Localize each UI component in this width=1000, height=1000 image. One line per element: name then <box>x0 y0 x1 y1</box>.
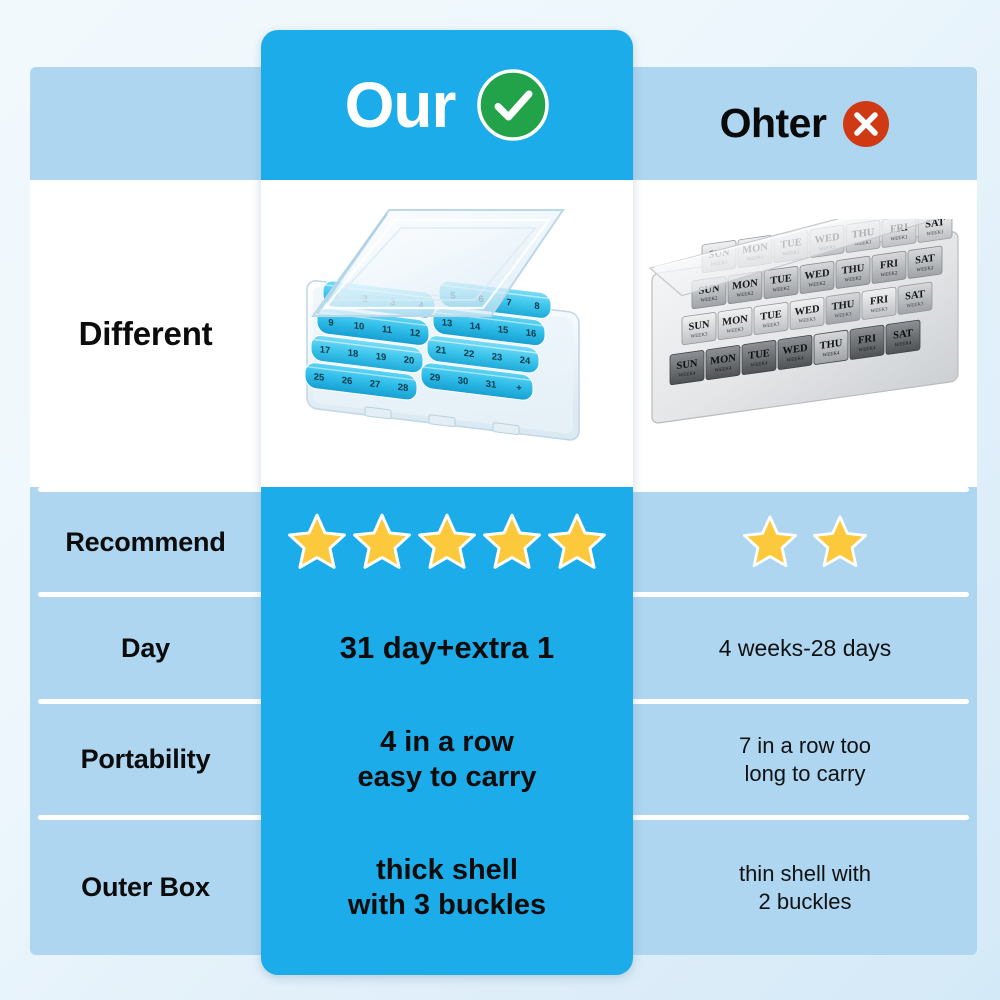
svg-text:30: 30 <box>458 375 469 387</box>
our-portability-value: 4 in a row easy to carry <box>261 704 633 815</box>
other-day-value: 4 weeks-28 days <box>633 597 977 699</box>
other-column-header: Ohter <box>633 67 977 180</box>
star-icon <box>481 511 543 573</box>
svg-text:24: 24 <box>520 355 531 367</box>
svg-text:31: 31 <box>486 379 497 391</box>
svg-text:7: 7 <box>506 297 511 309</box>
svg-text:22: 22 <box>464 348 475 360</box>
row-label-day: Day <box>30 597 261 699</box>
svg-text:13: 13 <box>442 317 453 329</box>
star-icon <box>351 511 413 573</box>
star-icon <box>546 511 608 573</box>
row-label-outer-box: Outer Box <box>30 820 261 955</box>
other-outer-box-line2: 2 buckles <box>759 889 852 914</box>
our-column-header: Our <box>261 30 633 180</box>
our-outer-box-line1: thick shell <box>376 854 518 886</box>
other-portability-line2: long to carry <box>744 761 865 786</box>
our-rating-stars <box>261 492 633 592</box>
other-rating-stars <box>633 492 977 592</box>
svg-text:+: + <box>516 382 522 394</box>
row-label-different: Different <box>30 180 261 487</box>
our-day-value: 31 day+extra 1 <box>261 597 633 699</box>
our-product-photo: 12 34 56 78 910 1112 1314 <box>261 180 633 487</box>
svg-text:28: 28 <box>398 382 409 394</box>
other-outer-box-value: thin shell with 2 buckles <box>633 820 977 955</box>
svg-text:11: 11 <box>382 324 393 336</box>
cross-circle-icon <box>842 100 890 148</box>
svg-text:12: 12 <box>410 327 421 339</box>
svg-text:20: 20 <box>404 355 415 367</box>
check-circle-icon <box>477 69 549 141</box>
svg-text:21: 21 <box>436 345 447 357</box>
other-portability-value: 7 in a row too long to carry <box>633 704 977 815</box>
svg-text:17: 17 <box>320 344 331 356</box>
svg-text:26: 26 <box>342 375 353 387</box>
star-icon <box>416 511 478 573</box>
comparison-table-panel: Ohter <box>30 67 977 955</box>
svg-text:19: 19 <box>376 351 387 363</box>
other-product-photo: SUNMON TUEWED THUFRI SAT WEEK1WEEK1 WEEK… <box>633 180 977 487</box>
svg-text:25: 25 <box>314 372 325 384</box>
other-column-title: Ohter <box>720 103 827 144</box>
star-rating-two <box>741 513 869 571</box>
other-outer-box-line1: thin shell with <box>739 861 871 886</box>
other-portability-line1: 7 in a row too <box>739 733 871 758</box>
row-label-portability: Portability <box>30 704 261 815</box>
star-rating-five <box>286 511 608 573</box>
our-outer-box-line2: with 3 buckles <box>348 889 546 921</box>
svg-text:29: 29 <box>430 372 441 384</box>
our-outer-box-value: thick shell with 3 buckles <box>261 820 633 955</box>
svg-text:14: 14 <box>470 321 481 333</box>
svg-text:9: 9 <box>328 317 333 329</box>
svg-text:16: 16 <box>526 328 537 340</box>
star-icon <box>286 511 348 573</box>
star-icon <box>741 513 799 571</box>
our-column-title: Our <box>345 73 456 137</box>
svg-text:27: 27 <box>370 378 381 390</box>
our-portability-line1: 4 in a row <box>380 726 514 758</box>
svg-text:18: 18 <box>348 348 359 360</box>
our-portability-line2: easy to carry <box>358 761 537 793</box>
svg-text:8: 8 <box>534 301 539 313</box>
svg-text:15: 15 <box>498 324 509 336</box>
svg-text:10: 10 <box>354 320 365 332</box>
svg-text:23: 23 <box>492 351 503 363</box>
row-label-recommend: Recommend <box>30 492 261 592</box>
star-icon <box>811 513 869 571</box>
